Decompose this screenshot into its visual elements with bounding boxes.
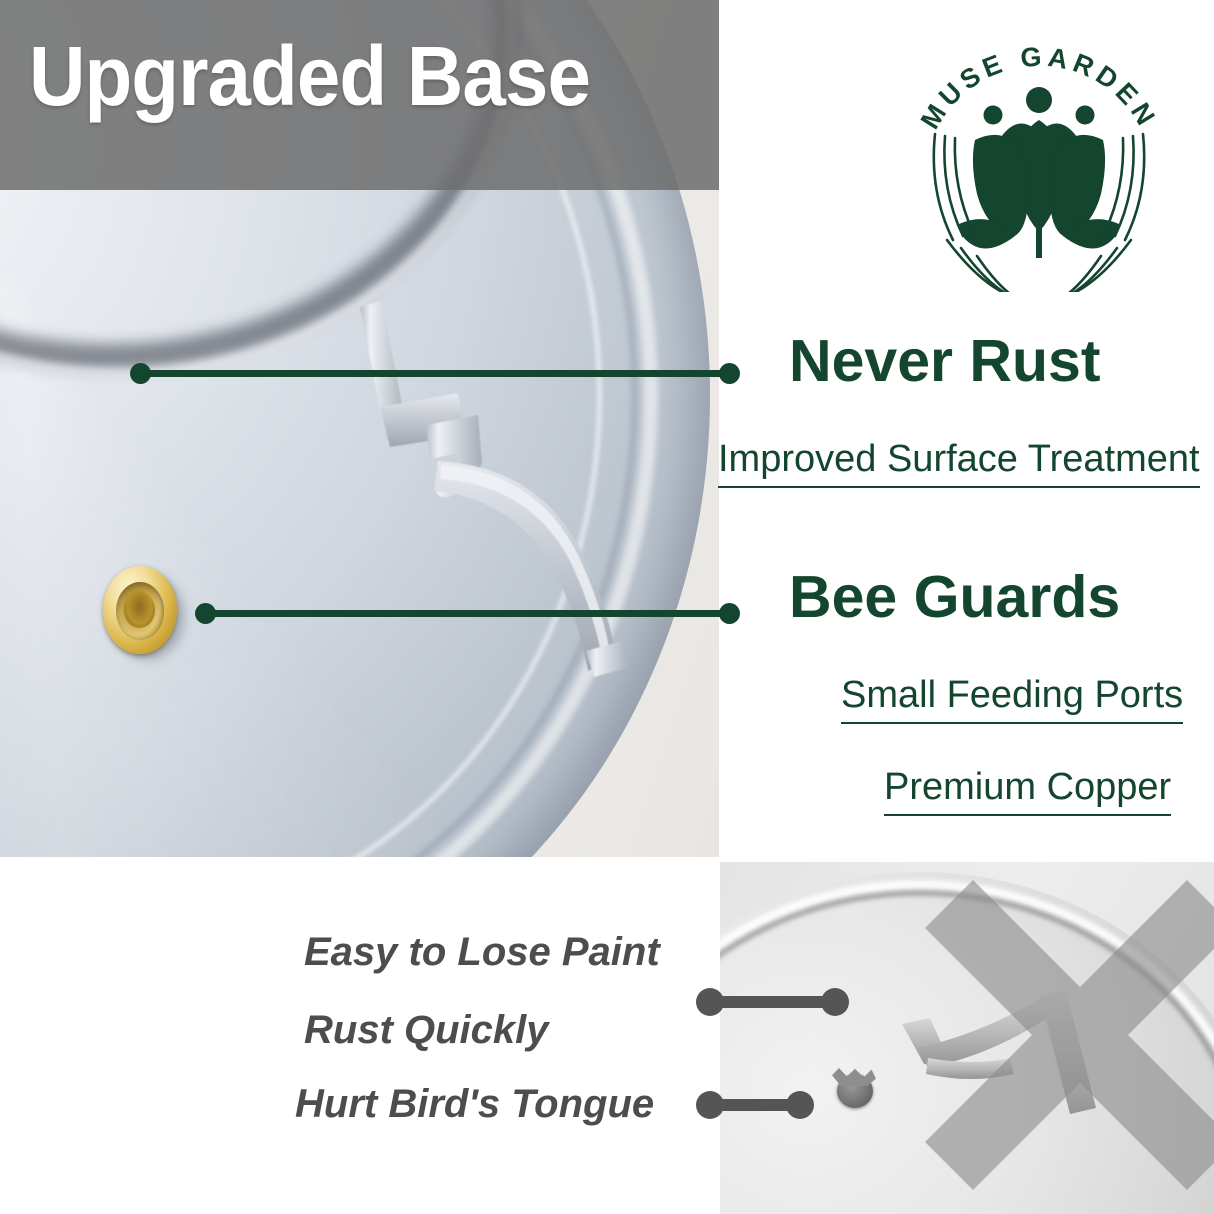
- copper-bee-guard-port-icon: [103, 566, 181, 658]
- feature-subtitle-small-feeding-ports: Small Feeding Ports: [841, 676, 1183, 724]
- feature-title-bee-guards: Bee Guards: [789, 568, 1120, 627]
- damaged-feeding-port-icon: [837, 1074, 873, 1108]
- logo-dot-center-icon: [1026, 87, 1052, 113]
- feature-subtitle-improved-surface-treatment: Improved Surface Treatment: [718, 440, 1200, 488]
- leader-line-drawback-paint: [710, 996, 835, 1008]
- hero-product-photo: Upgraded Base: [0, 0, 719, 857]
- logo-dot-left-icon: [984, 106, 1003, 125]
- feature-title-never-rust: Never Rust: [789, 332, 1101, 391]
- leader-line-bee-guards: [205, 610, 730, 617]
- feature-subtitle-premium-copper: Premium Copper: [884, 768, 1171, 816]
- port-aperture: [124, 592, 155, 628]
- drawback-item-hurt-birds-tongue: Hurt Bird's Tongue: [295, 1084, 654, 1124]
- muse-garden-logo: MUSE GARDEN: [893, 12, 1185, 292]
- logo-tulip-icon: [959, 120, 1119, 258]
- drawback-item-easy-to-lose-paint: Easy to Lose Paint: [304, 932, 660, 972]
- old-base-photo: [720, 862, 1214, 1214]
- header-banner: Upgraded Base: [0, 0, 719, 190]
- leader-line-drawback-port: [710, 1099, 800, 1111]
- logo-dot-right-icon: [1076, 106, 1095, 125]
- infographic-page: Upgraded Base MUSE GARDEN: [0, 0, 1214, 1214]
- metal-perch-bar-icon: [330, 285, 660, 685]
- x-cross-icon: [915, 870, 1214, 1200]
- leader-line-never-rust: [140, 370, 730, 377]
- drawback-item-rust-quickly: Rust Quickly: [304, 1010, 549, 1050]
- page-title: Upgraded Base: [29, 34, 590, 118]
